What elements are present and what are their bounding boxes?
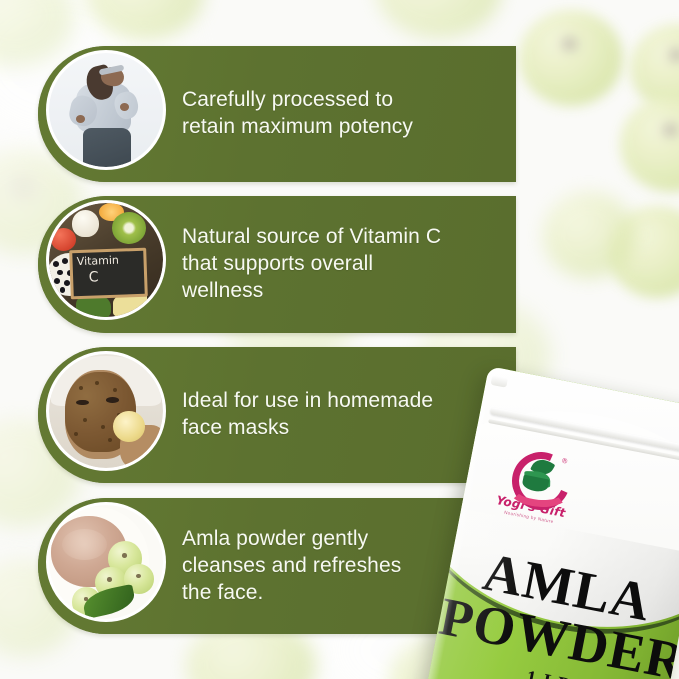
background-berry [519, 10, 623, 106]
feature-card-potency[interactable]: Carefully processed to retain maximum po… [38, 46, 516, 182]
registered-trademark-icon: ® [561, 458, 567, 466]
background-berry [376, 0, 502, 38]
feature-card-vitamin-c[interactable]: Vitamin C Natural source of Vitamin C th… [38, 196, 516, 333]
chalkboard-caption-line2: C [88, 271, 98, 284]
background-berry [543, 192, 635, 278]
feature-card-text: Ideal for use in homemade face masks [182, 387, 512, 441]
infographic-canvas: Carefully processed to retain maximum po… [0, 0, 679, 679]
yogis-gift-logo-icon: ® [507, 447, 567, 504]
amla-powder-plate-photo [46, 502, 166, 622]
feature-card-text: Natural source of Vitamin C that support… [182, 223, 512, 304]
feature-card-face-masks[interactable]: Ideal for use in homemade face masks [38, 347, 516, 483]
vitamin-c-foods-photo: Vitamin C [46, 200, 166, 320]
runner-woman-photo [46, 50, 166, 170]
feature-card-text: Carefully processed to retain maximum po… [182, 86, 502, 140]
background-berry [620, 96, 679, 192]
face-mask-woman-photo [46, 351, 166, 471]
chalkboard-caption-line1: Vitamin [76, 253, 119, 267]
